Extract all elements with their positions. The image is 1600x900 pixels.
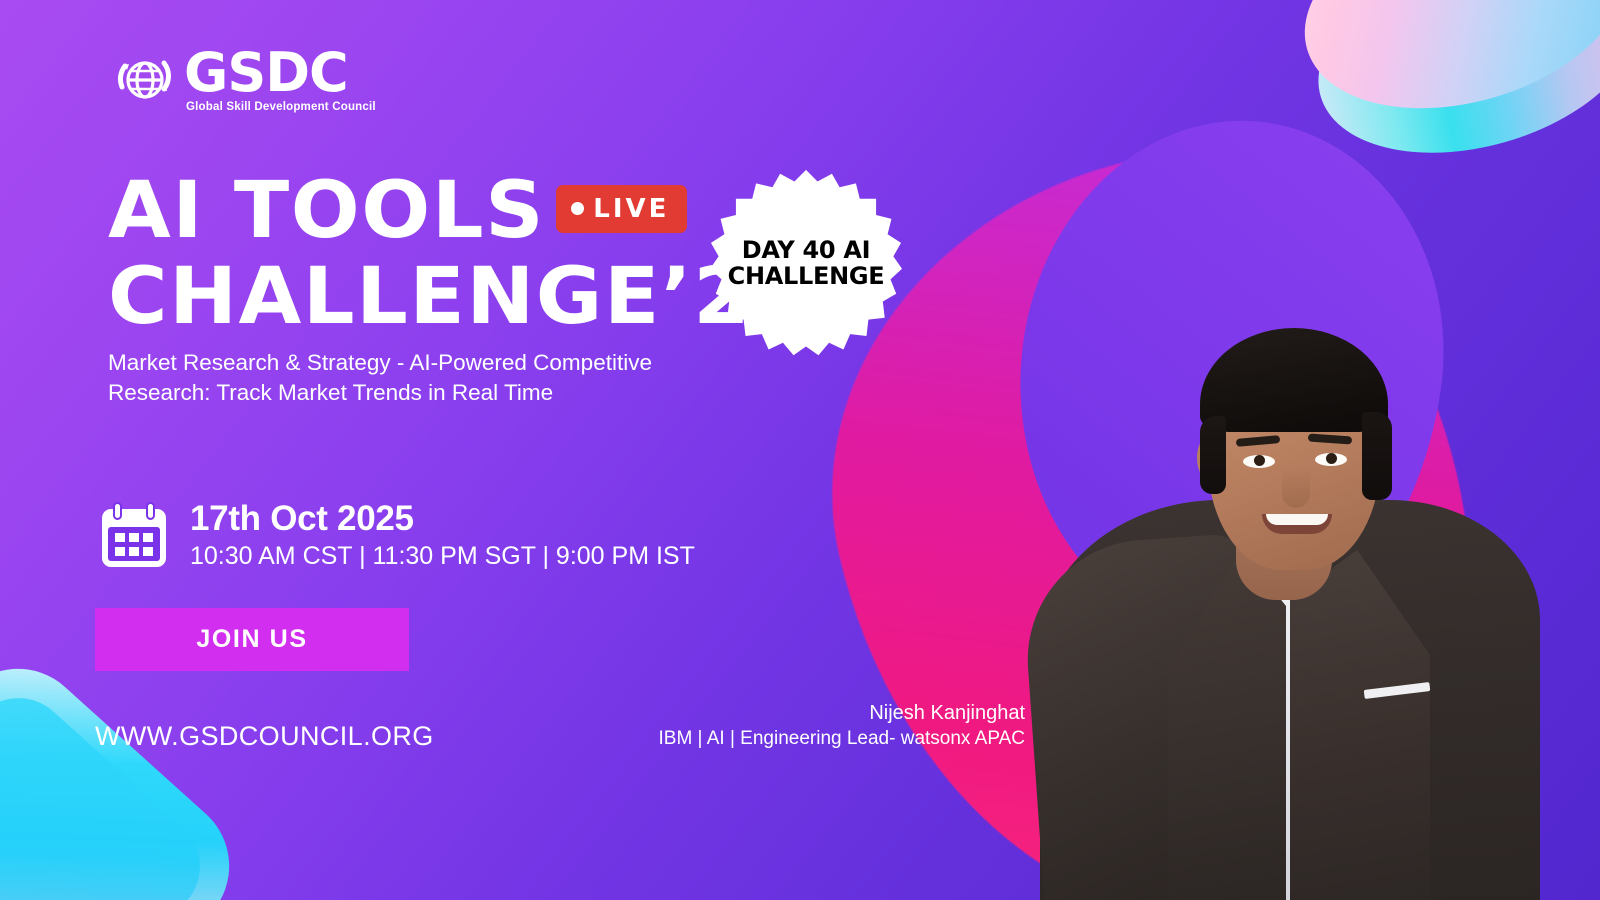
live-badge: LIVE <box>556 185 687 233</box>
portrait-hair <box>1200 328 1388 432</box>
headline-line-1: AI TOOLS <box>108 176 545 248</box>
logo-wordmark: GSDC <box>184 47 376 99</box>
gsdc-logo[interactable]: GSDC Global Skill Development Council <box>112 47 376 113</box>
live-label: LIVE <box>593 194 669 224</box>
speaker-credit: Nijesh Kanjinghat IBM | AI | Engineering… <box>659 700 1026 752</box>
calendar-icon <box>96 497 172 573</box>
iridescent-gem-decoration <box>0 640 258 900</box>
join-us-button[interactable]: JOIN US <box>95 608 409 671</box>
portrait-nose <box>1282 468 1310 508</box>
portrait-pupil-left <box>1254 455 1265 466</box>
event-date: 17th Oct 2025 <box>190 499 695 538</box>
website-url[interactable]: WWW.GSDCOUNCIL.ORG <box>95 721 434 752</box>
portrait-hair-side-left <box>1200 416 1226 494</box>
schedule-block: 17th Oct 2025 10:30 AM CST | 11:30 PM SG… <box>96 497 695 573</box>
speaker-portrait <box>1040 110 1540 900</box>
speaker-name: Nijesh Kanjinghat <box>659 700 1026 726</box>
day-challenge-starburst-badge: DAY 40 AI CHALLENGE <box>710 168 902 360</box>
starburst-label: DAY 40 AI CHALLENGE <box>721 238 891 290</box>
webinar-banner: GSDC Global Skill Development Council AI… <box>0 0 1600 900</box>
live-dot-icon <box>571 202 584 215</box>
starburst-line-1: DAY 40 AI <box>742 236 871 264</box>
portrait-hair-side-right <box>1362 412 1392 500</box>
speaker-role: IBM | AI | Engineering Lead- watsonx APA… <box>659 726 1026 752</box>
session-subtitle: Market Research & Strategy - AI-Powered … <box>108 348 693 409</box>
portrait-teeth <box>1266 514 1328 525</box>
portrait-mouth <box>1262 514 1332 534</box>
globe-icon <box>112 49 174 111</box>
starburst-line-2: CHALLENGE <box>728 262 885 290</box>
headline-block: AI TOOLS LIVE CHALLENGE’25 <box>108 176 782 334</box>
logo-tagline: Global Skill Development Council <box>186 101 376 113</box>
headline-line-2: CHALLENGE’25 <box>108 262 809 334</box>
event-times: 10:30 AM CST | 11:30 PM SGT | 9:00 PM IS… <box>190 541 695 571</box>
portrait-pupil-right <box>1326 453 1337 464</box>
